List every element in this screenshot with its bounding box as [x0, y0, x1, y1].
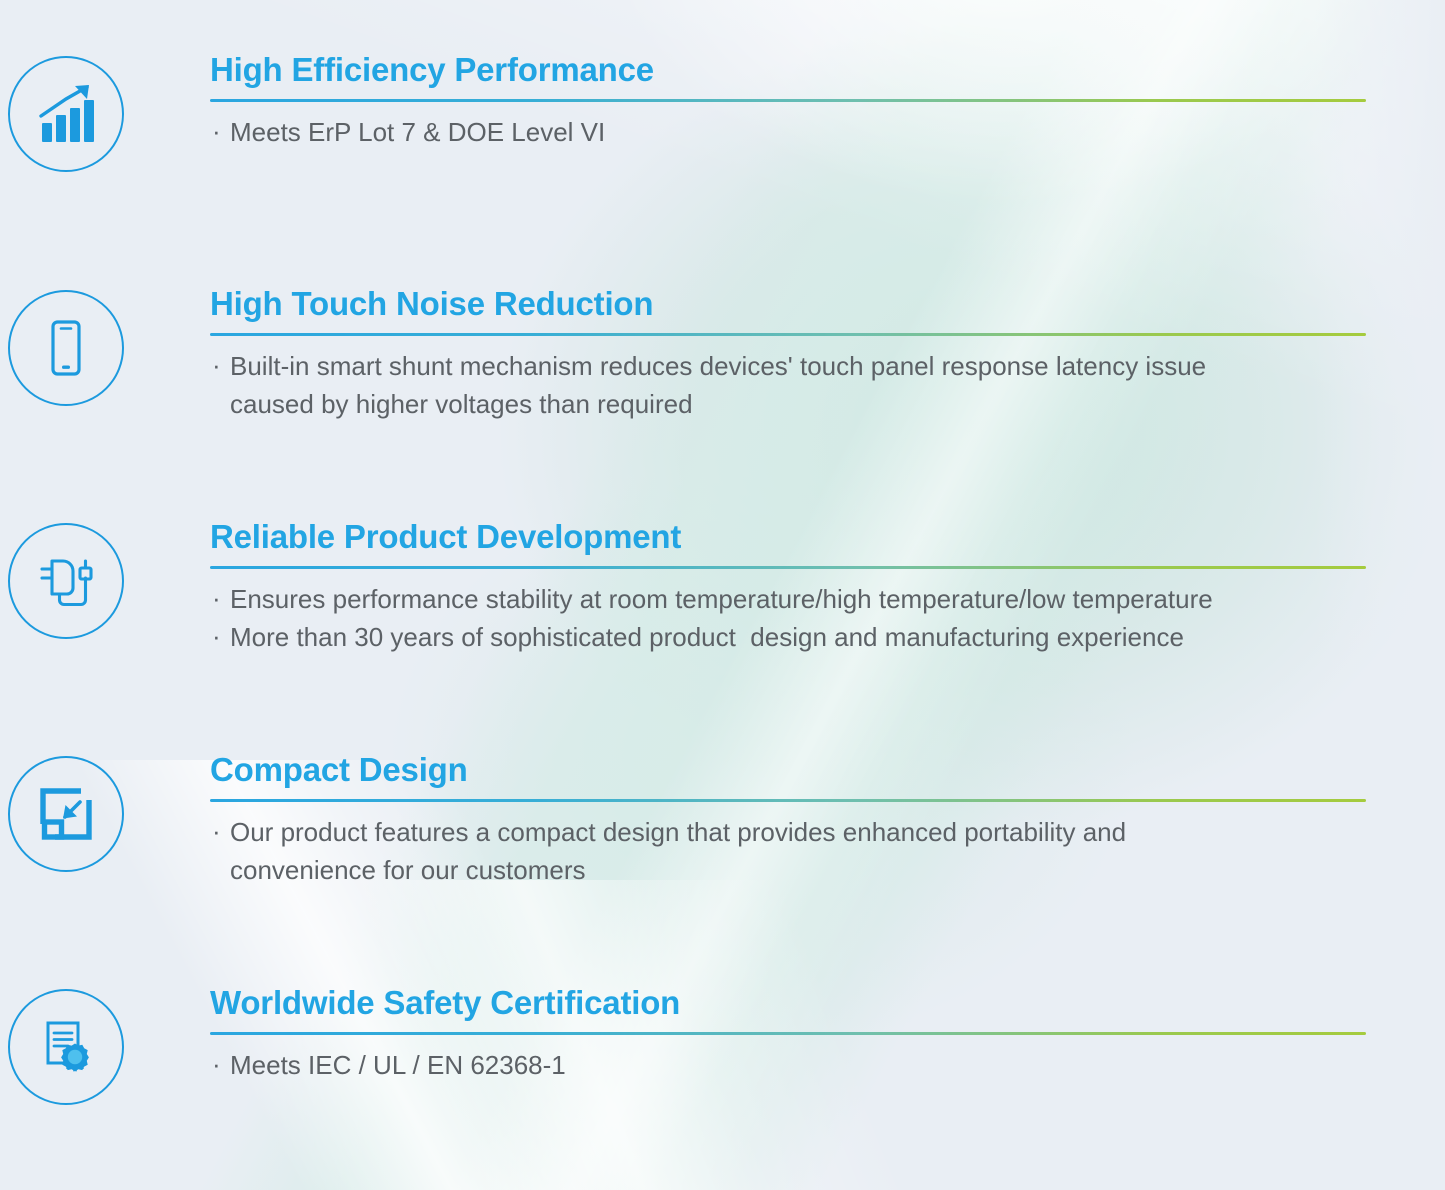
- feature-bullet: Meets ErP Lot 7 & DOE Level VI: [210, 113, 1367, 151]
- feature-divider: [210, 99, 1366, 102]
- compact-resize-icon: [8, 756, 124, 872]
- feature-content: Worldwide Safety Certification Meets IEC…: [132, 985, 1445, 1084]
- feature-icon-container: [0, 752, 132, 872]
- feature-list: High Efficiency Performance Meets ErP Lo…: [0, 0, 1445, 1190]
- feature-bullet-list: Built-in smart shunt mechanism reduces d…: [210, 347, 1367, 423]
- feature-row-reliable-product-development: Reliable Product Development Ensures per…: [0, 519, 1445, 656]
- feature-bullet-list: Our product features a compact design th…: [210, 813, 1367, 889]
- power-adapter-icon: [8, 523, 124, 639]
- feature-content: Reliable Product Development Ensures per…: [132, 519, 1445, 656]
- feature-bullet-list: Ensures performance stability at room te…: [210, 580, 1367, 656]
- feature-content: High Touch Noise Reduction Built-in smar…: [132, 286, 1445, 423]
- feature-content: Compact Design Our product features a co…: [132, 752, 1445, 889]
- feature-bullet: Our product features a compact design th…: [210, 813, 1367, 889]
- feature-title: Compact Design: [210, 752, 1367, 789]
- feature-row-high-efficiency-performance: High Efficiency Performance Meets ErP Lo…: [0, 52, 1445, 172]
- feature-row-high-touch-noise-reduction: High Touch Noise Reduction Built-in smar…: [0, 286, 1445, 423]
- feature-icon-container: [0, 52, 132, 172]
- feature-divider: [210, 333, 1366, 336]
- feature-bullet: Meets IEC / UL / EN 62368-1: [210, 1046, 1367, 1084]
- certificate-award-icon: [8, 989, 124, 1105]
- feature-icon-container: [0, 286, 132, 406]
- feature-divider: [210, 1032, 1366, 1035]
- feature-icon-container: [0, 985, 132, 1105]
- bar-chart-growth-icon: [8, 56, 124, 172]
- feature-row-worldwide-safety-certification: Worldwide Safety Certification Meets IEC…: [0, 985, 1445, 1105]
- feature-bullet-list: Meets ErP Lot 7 & DOE Level VI: [210, 113, 1367, 151]
- feature-bullet-list: Meets IEC / UL / EN 62368-1: [210, 1046, 1367, 1084]
- feature-title: Reliable Product Development: [210, 519, 1367, 556]
- feature-icon-container: [0, 519, 132, 639]
- feature-divider: [210, 566, 1366, 569]
- feature-highlights-page: High Efficiency Performance Meets ErP Lo…: [0, 0, 1445, 1190]
- feature-divider: [210, 799, 1366, 802]
- feature-bullet: Built-in smart shunt mechanism reduces d…: [210, 347, 1367, 423]
- feature-bullet: More than 30 years of sophisticated prod…: [210, 618, 1367, 656]
- feature-title: Worldwide Safety Certification: [210, 985, 1367, 1022]
- smartphone-icon: [8, 290, 124, 406]
- feature-title: High Efficiency Performance: [210, 52, 1367, 89]
- feature-content: High Efficiency Performance Meets ErP Lo…: [132, 52, 1445, 151]
- feature-bullet: Ensures performance stability at room te…: [210, 580, 1367, 618]
- feature-row-compact-design: Compact Design Our product features a co…: [0, 752, 1445, 889]
- feature-title: High Touch Noise Reduction: [210, 286, 1367, 323]
